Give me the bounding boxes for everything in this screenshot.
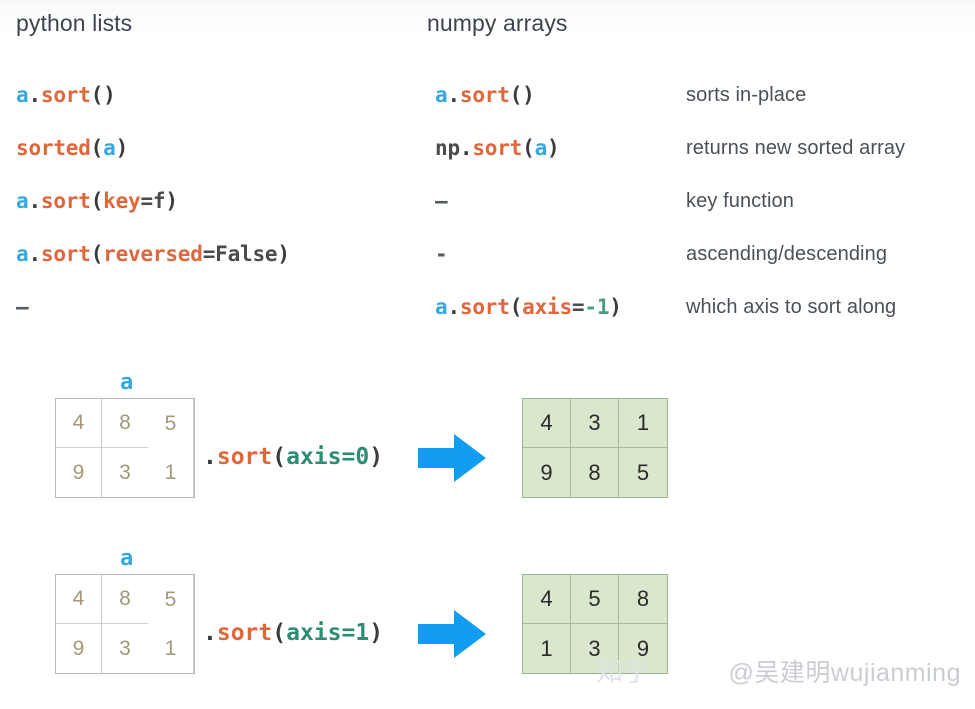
matrix-cell-value: 3 [102,624,148,673]
code-token-number: -1 [584,295,609,319]
code-token-dot: . [203,444,217,470]
matrix-cell-value: 1 [148,624,193,673]
matrix-cell: 3 [571,399,619,448]
code-token-variable: a [16,83,28,107]
code-token-open-paren: ( [510,83,522,107]
code-token-function: sort [41,242,91,266]
matrix-cell: 3 [102,448,148,497]
code-token-variable: a [435,83,447,107]
code-token-variable: a [16,242,28,266]
python-code-cell: sorted(a) [16,131,128,165]
author-watermark: @吴建明wujianming [729,653,961,689]
description-cell: key function [686,184,794,218]
description-cell: returns new sorted array [686,131,905,165]
python-code-cell: a.sort(key=f) [16,184,178,218]
matrix-cell: 4 [523,399,571,448]
numpy-code-cell: a.sort(axis=-1) [435,290,622,324]
matrix-cell: 8 [619,575,667,624]
column-header-python-lists: python lists [16,10,132,37]
matrix-cell-value: 1 [148,448,193,497]
diagram-axis-0: a 4 8 5 9 3 1 .sort(axis=0) 4 3 1 [0,370,975,530]
matrix-cell: 5 [148,399,194,448]
matrix-cell: 4 [523,575,571,624]
matrix-cell: 1 [523,624,571,673]
matrix-cell: 9 [523,448,571,497]
matrix-cell: 1 [148,624,194,673]
code-token-close-paren: ) [165,189,177,213]
operation-label: .sort(axis=0) [203,444,383,470]
code-token-function: sort [41,189,91,213]
code-token-close-paren: ) [609,295,621,319]
code-token-equals: = [572,295,584,319]
code-token-close-paren: ) [369,620,383,646]
python-code-cell-empty: – [16,290,28,324]
input-matrix: 4 8 5 9 3 1 [55,574,195,674]
code-token-close-paren: ) [103,83,115,107]
matrix-variable-label: a [120,546,133,571]
matrix-cell-value: 5 [148,399,193,448]
matrix-cell: 4 [56,399,102,448]
right-arrow-icon [418,432,488,489]
matrix-cell: 5 [619,448,667,497]
matrix-cell-value: 8 [102,575,148,623]
matrix-cell-value: 9 [56,448,101,497]
description-cell: sorts in-place [686,78,806,112]
code-token-dot: . [447,295,459,319]
code-token-dot: . [28,83,40,107]
comparison-row: – a.sort(axis=-1) which axis to sort alo… [0,290,975,343]
code-token-function: sort [460,295,510,319]
code-token-variable: a [16,189,28,213]
comparison-row: a.sort(key=f) – key function [0,184,975,237]
matrix-cell-value: 8 [102,399,148,447]
matrix-cell: 1 [619,399,667,448]
code-token-kwarg-value: False [215,242,277,266]
operation-label: .sort(axis=1) [203,620,383,646]
matrix-cell: 8 [102,399,148,448]
code-token-open-paren: ( [272,444,286,470]
code-token-close-paren: ) [522,83,534,107]
code-token-function: sort [217,444,272,470]
description-cell: which axis to sort along [686,290,896,324]
input-matrix: 4 8 5 9 3 1 [55,398,195,498]
code-token-argument: a [103,136,115,160]
numpy-code-cell: np.sort(a) [435,131,559,165]
matrix-variable-label: a [120,370,133,395]
matrix-cell-value: 4 [56,399,101,447]
code-token-dot: . [28,242,40,266]
code-token-kwarg-value: f [153,189,165,213]
code-token-dot: . [28,189,40,213]
matrix-cell: 9 [56,624,102,673]
code-token-module: np [435,136,460,160]
python-code-cell: a.sort() [16,78,116,112]
zhihu-logo-watermark: 知乎 [596,650,650,689]
code-token-kwarg-name: axis [522,295,572,319]
code-token-kwarg-name: key [103,189,140,213]
code-token-open-paren: ( [91,242,103,266]
column-header-numpy-arrays: numpy arrays [427,10,568,37]
numpy-code-cell-empty: – [435,184,447,218]
code-token-close-paren: ) [116,136,128,160]
code-token-open-paren: ( [272,620,286,646]
code-token-function: sort [41,83,91,107]
code-token-function: sorted [16,136,91,160]
code-token-equals: = [203,242,215,266]
matrix-cell-value: 9 [56,624,101,673]
code-token-open-paren: ( [91,136,103,160]
matrix-cell: 8 [102,575,148,624]
code-token-dot: . [203,620,217,646]
code-token-axis-arg: axis=0 [286,444,369,470]
matrix-cell: 8 [571,448,619,497]
matrix-cell-value: 4 [56,575,101,623]
code-token-open-paren: ( [91,189,103,213]
code-token-close-paren: ) [277,242,289,266]
numpy-code-cell-empty: - [435,237,447,271]
matrix-cell: 5 [571,575,619,624]
description-cell: ascending/descending [686,237,887,271]
matrix-cell: 4 [56,575,102,624]
comparison-row: a.sort() a.sort() sorts in-place [0,78,975,131]
code-token-equals: = [140,189,152,213]
comparison-row: a.sort(reversed=False) - ascending/desce… [0,237,975,290]
code-token-close-paren: ) [369,444,383,470]
code-token-function: sort [460,83,510,107]
code-token-argument: a [535,136,547,160]
code-token-dot: . [460,136,472,160]
matrix-cell: 9 [56,448,102,497]
code-token-kwarg-name: reversed [103,242,203,266]
python-code-cell: a.sort(reversed=False) [16,237,290,271]
code-token-variable: a [435,295,447,319]
output-matrix: 4 3 1 9 8 5 [522,398,668,498]
numpy-code-cell: a.sort() [435,78,535,112]
code-token-function: sort [217,620,272,646]
matrix-cell: 3 [102,624,148,673]
code-token-close-paren: ) [547,136,559,160]
comparison-row: sorted(a) np.sort(a) returns new sorted … [0,131,975,184]
code-token-axis-arg: axis=1 [286,620,369,646]
code-token-open-paren: ( [522,136,534,160]
matrix-cell-value: 3 [102,448,148,497]
cheatsheet-page: python lists numpy arrays a.sort() a.sor… [0,0,975,709]
code-token-function: sort [472,136,522,160]
right-arrow-icon [418,608,488,665]
code-token-open-paren: ( [91,83,103,107]
code-token-dot: . [447,83,459,107]
matrix-cell: 5 [148,575,194,624]
code-token-open-paren: ( [510,295,522,319]
matrix-cell-value: 5 [148,575,193,624]
matrix-cell: 1 [148,448,194,497]
